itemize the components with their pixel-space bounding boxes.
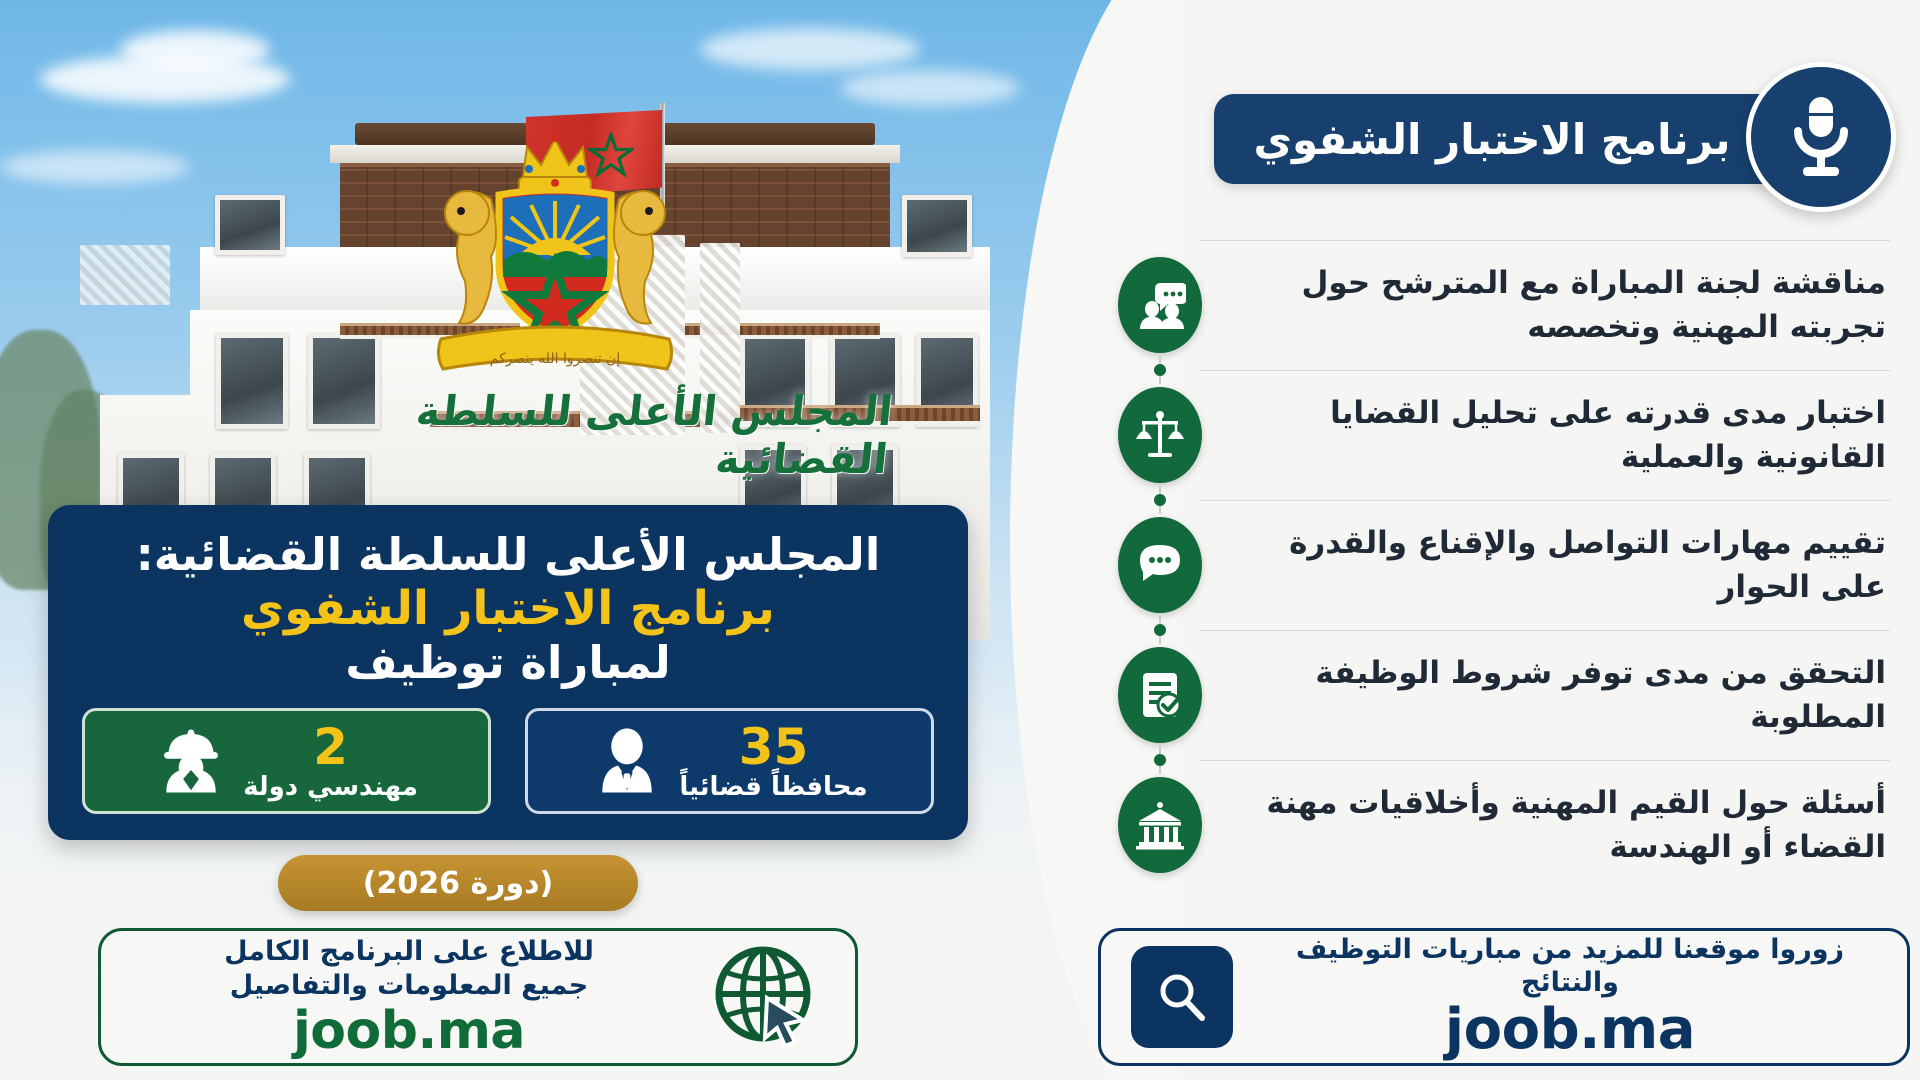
list-item: اختبار مدى قدرته على تحليل القضايا القان… bbox=[1090, 370, 1920, 500]
divider bbox=[1200, 760, 1890, 761]
stat-number: 2 bbox=[243, 721, 418, 774]
moroccan-coat-of-arms-icon: إن تنصروا الله ينصركم bbox=[395, 125, 715, 395]
stat-card-judicial-officers: 35 محافظاً قضائياً bbox=[525, 708, 934, 814]
left-cta-card[interactable]: للاطلاع على البرنامج الكامل جميع المعلوم… bbox=[98, 928, 858, 1066]
infographic-canvas: إن تنصروا الله ينصركم المجلس الأعلى للسل… bbox=[0, 0, 1920, 1080]
right-cta-line1: زوروا موقعنا للمزيد من مباريات التوظيف و… bbox=[1263, 934, 1877, 999]
person-suit-icon bbox=[591, 725, 663, 797]
list-item-text: أسئلة حول القيم المهنية وأخلاقيات مهنة ا… bbox=[1110, 781, 1920, 869]
document-check-icon bbox=[1118, 647, 1202, 743]
divider bbox=[1200, 500, 1890, 501]
stat-label: مهندسي دولة bbox=[243, 774, 418, 801]
timeline-dot bbox=[1154, 364, 1166, 376]
oral-exam-banner-title: برنامج الاختبار الشفوي bbox=[1250, 115, 1734, 164]
season-badge: (دورة 2026) bbox=[278, 855, 638, 911]
list-item: التحقق من مدى توفر شروط الوظيفة المطلوبة bbox=[1090, 630, 1920, 760]
left-cta-domain[interactable]: joob.ma bbox=[135, 1004, 683, 1059]
search-icon bbox=[1131, 946, 1233, 1048]
left-cta-line2: جميع المعلومات والتفاصيل bbox=[135, 969, 683, 1002]
list-item-text: تقييم مهارات التواصل والإقناع والقدرة عل… bbox=[1110, 521, 1920, 609]
list-item: تقييم مهارات التواصل والإقناع والقدرة عل… bbox=[1090, 500, 1920, 630]
divider bbox=[1200, 240, 1890, 241]
scales-justice-icon bbox=[1118, 387, 1202, 483]
microphone-icon bbox=[1746, 62, 1896, 212]
speech-bubble-icon bbox=[1118, 517, 1202, 613]
list-item-text: اختبار مدى قدرته على تحليل القضايا القان… bbox=[1110, 391, 1920, 479]
stat-label: محافظاً قضائياً bbox=[679, 774, 867, 801]
stat-card-state-engineers: 2 مهندسي دولة bbox=[82, 708, 491, 814]
divider bbox=[1200, 630, 1890, 631]
svg-text:إن تنصروا الله ينصركم: إن تنصروا الله ينصركم bbox=[490, 351, 621, 367]
list-item: أسئلة حول القيم المهنية وأخلاقيات مهنة ا… bbox=[1090, 760, 1920, 890]
main-title-card: المجلس الأعلى للسلطة القضائية: برنامج ال… bbox=[48, 505, 968, 840]
oral-exam-criteria-list: مناقشة لجنة المباراة مع المترشح حول تجرب… bbox=[1090, 240, 1920, 890]
courthouse-icon bbox=[1118, 777, 1202, 873]
cloud bbox=[700, 28, 920, 70]
list-item-text: مناقشة لجنة المباراة مع المترشح حول تجرب… bbox=[1110, 261, 1920, 349]
engineer-helmet-icon bbox=[155, 725, 227, 797]
cloud bbox=[120, 30, 270, 70]
stat-number: 35 bbox=[679, 721, 867, 774]
title-line-institution: المجلس الأعلى للسلطة القضائية: bbox=[82, 529, 934, 580]
list-item-text: التحقق من مدى توفر شروط الوظيفة المطلوبة bbox=[1110, 651, 1920, 739]
right-cta-card[interactable]: زوروا موقعنا للمزيد من مباريات التوظيف و… bbox=[1098, 928, 1910, 1066]
title-line-competition: لمباراة توظيف bbox=[82, 637, 934, 688]
people-conversation-icon bbox=[1118, 257, 1202, 353]
institution-calligraphy: المجلس الأعلى للسلطة القضائية bbox=[246, 395, 894, 475]
timeline-dot bbox=[1154, 494, 1166, 506]
globe-cursor-icon bbox=[711, 942, 821, 1052]
left-cta-line1: للاطلاع على البرنامج الكامل bbox=[135, 935, 683, 968]
timeline-dot bbox=[1154, 624, 1166, 636]
title-line-program: برنامج الاختبار الشفوي bbox=[82, 582, 934, 636]
right-panel: برنامج الاختبار الشفوي bbox=[1090, 0, 1920, 1080]
stats-row: 35 محافظاً قضائياً 2 مهندسي دولة bbox=[82, 708, 934, 814]
timeline-dot bbox=[1154, 754, 1166, 766]
right-cta-domain[interactable]: joob.ma bbox=[1263, 1001, 1877, 1060]
list-item: مناقشة لجنة المباراة مع المترشح حول تجرب… bbox=[1090, 240, 1920, 370]
divider bbox=[1200, 370, 1890, 371]
